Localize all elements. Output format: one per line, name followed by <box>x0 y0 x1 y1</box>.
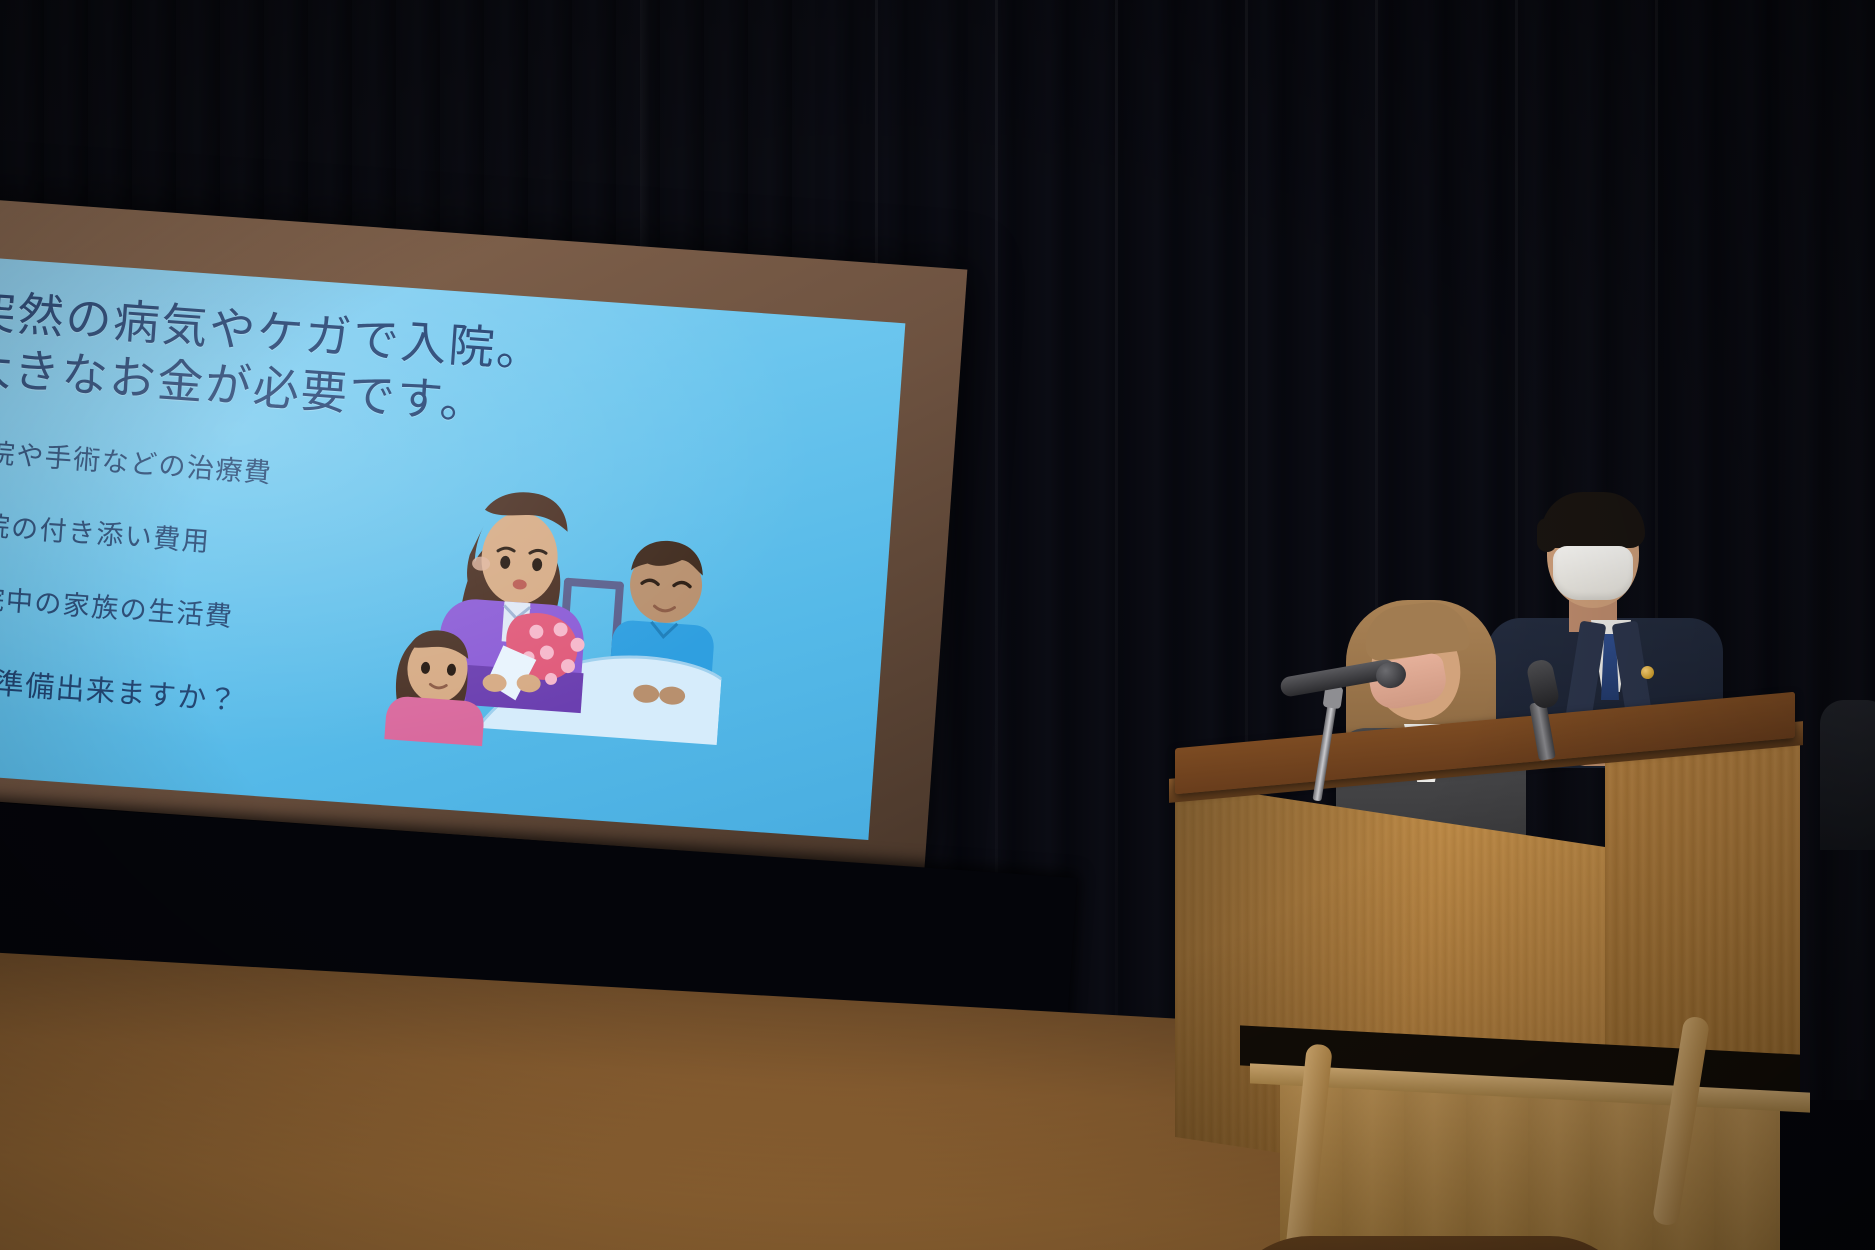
face-mask <box>1553 546 1633 600</box>
lapel-pin <box>1641 666 1654 679</box>
mic-head <box>1525 658 1560 710</box>
mic-body <box>1529 701 1556 761</box>
background-figure <box>1820 700 1875 850</box>
hair <box>1541 492 1645 548</box>
gooseneck-microphone <box>1272 660 1422 800</box>
auditorium-chairs <box>1250 1020 1875 1250</box>
mic-stand <box>1312 701 1337 801</box>
stage-scene: 突然の病気やケガで入院。 大きなお金が必要です。 ①入院や手術などの治療費 ②病… <box>0 0 1875 1250</box>
projection-screen: 突然の病気やケガで入院。 大きなお金が必要です。 ①入院や手術などの治療費 ②病… <box>0 196 967 868</box>
projected-slide: 突然の病気やケガで入院。 大きなお金が必要です。 ①入院や手術などの治療費 ②病… <box>0 256 905 840</box>
hospital-visit-illustration <box>356 468 734 763</box>
handheld-microphone <box>1520 660 1600 770</box>
